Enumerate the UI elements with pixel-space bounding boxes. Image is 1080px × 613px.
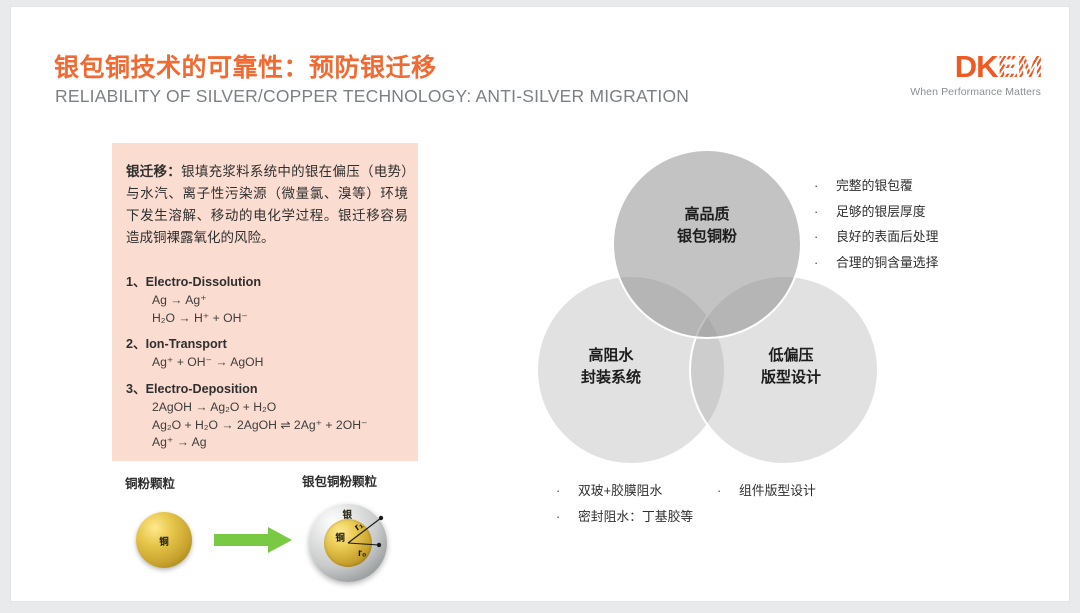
definition-paragraph: 银迁移：银填充浆料系统中的银在偏压（电势）与水汽、离子性污染源（微量氯、溴等）环… — [126, 161, 408, 248]
list-item: · 完整的银包覆 — [814, 173, 938, 199]
bullet-dot-icon: · — [556, 478, 578, 504]
reaction-step-1: 1、Electro-Dissolution Ag → Ag⁺ H₂O → H⁺ … — [126, 271, 416, 327]
particle-structure-diagram: 铜粉颗粒 银包铜粉颗粒 铜 银 铜 r₁ r₀ — [112, 465, 422, 575]
list-item-label: 足够的银层厚度 — [836, 199, 926, 224]
logo-text-dk: DK — [955, 52, 998, 82]
venn-label-encapsulation-line1: 高阻水 — [581, 345, 641, 367]
step-2-equation-1: Ag⁺ + OH⁻ → AgOH — [152, 354, 416, 372]
silver-migration-info-box: 银迁移：银填充浆料系统中的银在偏压（电势）与水汽、离子性污染源（微量氯、溴等）环… — [112, 143, 418, 461]
reaction-step-3: 3、Electro-Deposition 2AgOH → Ag₂O + H₂O … — [126, 378, 416, 452]
venn-label-layout-design: 低偏压 版型设计 — [761, 345, 821, 389]
list-item-label: 合理的铜含量选择 — [836, 250, 938, 275]
bullet-dot-icon: · — [717, 478, 739, 504]
step-1-heading: 1、Electro-Dissolution — [126, 271, 416, 290]
bullet-dot-icon: · — [814, 173, 836, 199]
bullet-list-layout-design: · 组件版型设计 — [717, 478, 816, 504]
bullet-dot-icon: · — [556, 504, 578, 530]
silver-coated-copper-sphere: 银 铜 r₁ r₀ — [309, 504, 387, 582]
list-item: · 良好的表面后处理 — [814, 224, 938, 250]
logo-text-em: EM — [998, 52, 1043, 82]
list-item-label: 完整的银包覆 — [836, 173, 913, 198]
bullet-dot-icon: · — [814, 224, 836, 250]
slide-canvas: 银包铜技术的可靠性：预防银迁移 RELIABILITY OF SILVER/CO… — [10, 6, 1070, 602]
radius-outer-label: r₀ — [358, 548, 366, 559]
venn-label-quality-powder-line1: 高品质 — [677, 204, 737, 226]
silver-coated-particle-label: 银包铜粉颗粒 — [302, 471, 377, 490]
step-1-number: 1、 — [126, 275, 146, 289]
venn-label-layout-design-line1: 低偏压 — [761, 345, 821, 367]
bullet-list-quality-powder: · 完整的银包覆 · 足够的银层厚度 · 良好的表面后处理 · 合理的铜含量选择 — [814, 173, 938, 276]
reaction-step-2: 2、Ion-Transport Ag⁺ + OH⁻ → AgOH — [126, 333, 416, 372]
list-item-label: 组件版型设计 — [739, 478, 816, 503]
bullet-dot-icon: · — [814, 250, 836, 276]
list-item: · 合理的铜含量选择 — [814, 250, 938, 276]
venn-label-quality-powder-line2: 银包铜粉 — [677, 226, 737, 248]
bullet-dot-icon: · — [814, 199, 836, 225]
radius-indicator-icon — [309, 504, 387, 582]
copper-sphere: 铜 — [136, 512, 192, 568]
venn-label-quality-powder: 高品质 银包铜粉 — [677, 204, 737, 248]
list-item-label: 密封阻水：丁基胶等 — [578, 504, 693, 529]
venn-label-encapsulation: 高阻水 封装系统 — [581, 345, 641, 389]
list-item-label: 双玻+胶膜阻水 — [578, 478, 662, 503]
step-3-title: Electro-Deposition — [146, 382, 258, 396]
transformation-arrow-icon — [214, 527, 292, 553]
step-3-heading: 3、Electro-Deposition — [126, 378, 416, 397]
bullet-list-encapsulation: · 双玻+胶膜阻水 · 密封阻水：丁基胶等 — [556, 478, 693, 529]
page-subtitle-en: RELIABILITY OF SILVER/COPPER TECHNOLOGY:… — [55, 86, 689, 107]
step-3-equation-1: 2AgOH → Ag₂O + H₂O — [152, 399, 416, 417]
step-1-equation-1: Ag → Ag⁺ — [152, 292, 416, 310]
definition-term: 银迁移： — [126, 164, 181, 179]
step-1-equation-2: H₂O → H⁺ + OH⁻ — [152, 310, 416, 328]
brand-logo: DKEM When Performance Matters — [897, 52, 1042, 104]
page-title-cn: 银包铜技术的可靠性：预防银迁移 — [54, 48, 437, 84]
list-item: · 双玻+胶膜阻水 — [556, 478, 693, 504]
venn-label-layout-design-line2: 版型设计 — [761, 367, 821, 389]
step-3-equation-3: Ag⁺ → Ag — [152, 434, 416, 452]
step-3-number: 3、 — [126, 382, 146, 396]
step-3-equation-2: Ag₂O + H₂O → 2AgOH ⇌ 2Ag⁺ + 2OH⁻ — [152, 417, 416, 435]
step-2-title: Ion-Transport — [146, 337, 227, 351]
list-item: · 组件版型设计 — [717, 478, 816, 504]
list-item: · 足够的银层厚度 — [814, 199, 938, 225]
step-2-heading: 2、Ion-Transport — [126, 333, 416, 352]
step-1-title: Electro-Dissolution — [146, 275, 261, 289]
venn-label-encapsulation-line2: 封装系统 — [581, 367, 641, 389]
step-2-number: 2、 — [126, 337, 146, 351]
list-item: · 密封阻水：丁基胶等 — [556, 504, 693, 530]
copper-particle-label: 铜粉颗粒 — [125, 473, 175, 492]
list-item-label: 良好的表面后处理 — [836, 224, 938, 249]
logo-tagline: When Performance Matters — [910, 86, 1041, 98]
copper-sphere-text: 铜 — [159, 534, 169, 548]
logo-wordmark: DKEM — [955, 52, 1042, 82]
